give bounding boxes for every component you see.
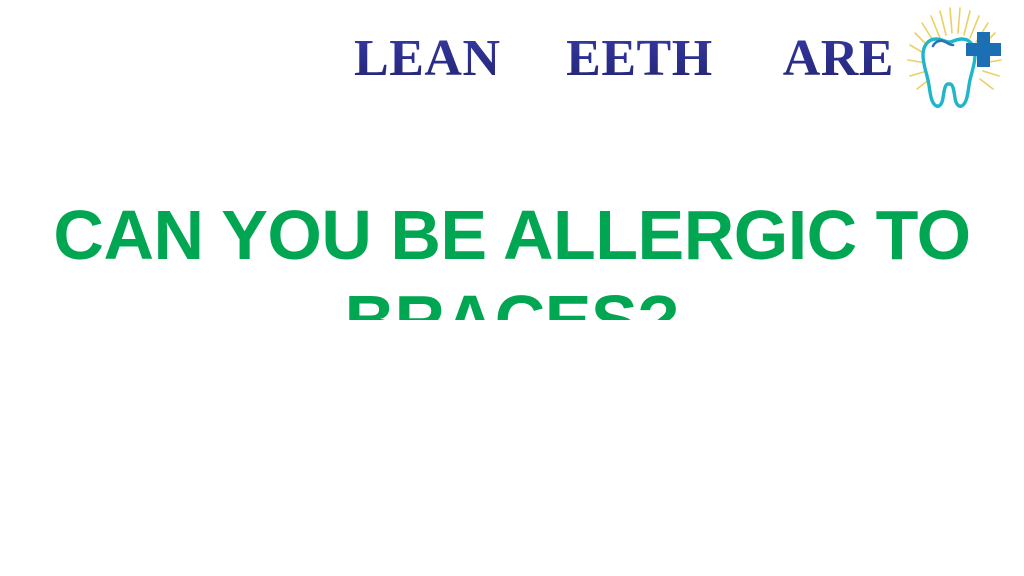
brand-word2-rest: EETH — [566, 30, 713, 87]
slide-canvas: CLEANTEETHCARE — [0, 0, 1024, 576]
brand-word3-rest: ARE — [783, 30, 894, 87]
brand-word3-initial: C — [729, 11, 783, 98]
page-title-line-1: CAN YOU BE ALLERGIC TO — [0, 193, 1024, 278]
tooth-with-cross-icon — [900, 5, 1008, 113]
content-area — [0, 320, 1024, 576]
brand-wordmark: CLEANTEETHCARE — [300, 24, 894, 86]
brand-word1-rest: LEAN — [354, 30, 500, 87]
brand-word2-initial: T — [517, 11, 567, 98]
brand-word1-initial: C — [300, 11, 354, 98]
brand-header: CLEANTEETHCARE — [0, 0, 1024, 118]
